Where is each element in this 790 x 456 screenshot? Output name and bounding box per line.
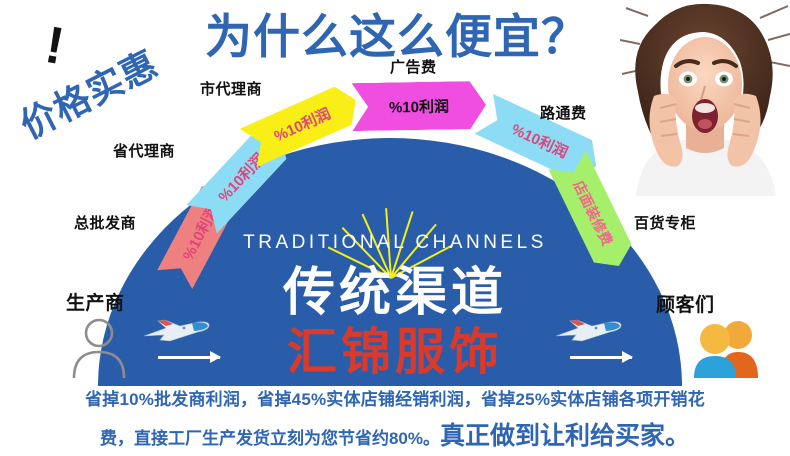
surprised-woman-photo	[620, 0, 790, 196]
label-department-counter: 百货专柜	[634, 212, 696, 233]
arrow-label: %10利润	[508, 118, 571, 162]
label-advertising-fee: 广告费	[390, 56, 437, 77]
label-wholesaler: 总批发商	[74, 212, 136, 233]
exclamation-mark: !	[42, 19, 68, 73]
footer-line-2-strong: 真正做到让利给买家。	[440, 422, 690, 450]
footer-line-1: 省掉10%批发商利润，省掉45%实体店铺经销利润，省掉25%实体店铺各项开销花	[0, 382, 790, 418]
arrow-label: %10利润	[389, 95, 449, 117]
footer-copy: 省掉10%批发商利润，省掉45%实体店铺经销利润，省掉25%实体店铺各项开销花 …	[0, 382, 790, 456]
label-city-agent: 市代理商	[200, 78, 262, 99]
label-channel-fee: 路通费	[540, 102, 587, 123]
label-producer: 生产商	[66, 288, 125, 315]
people-group-icon	[688, 318, 764, 378]
arrow-label: %10利润	[270, 102, 333, 146]
label-customers: 顾客们	[656, 290, 715, 317]
footer-line-2-plain: 费，直接工厂生产发货立刻为您节省约80%。	[100, 429, 440, 448]
infographic-canvas: 为什么这么便宜？ ! 价格实惠 TRADITIONAL CHANNELS 传统渠	[0, 0, 790, 456]
person-outline-icon	[68, 316, 130, 378]
promo-cheap-text: 价格实惠	[10, 36, 165, 150]
footer-line-2: 费，直接工厂生产发货立刻为您节省约80%。真正做到让利给买家。	[0, 418, 790, 456]
arrow-advertising-fee[interactable]: %10利润	[352, 81, 487, 131]
label-province-agent: 省代理商	[113, 140, 175, 161]
